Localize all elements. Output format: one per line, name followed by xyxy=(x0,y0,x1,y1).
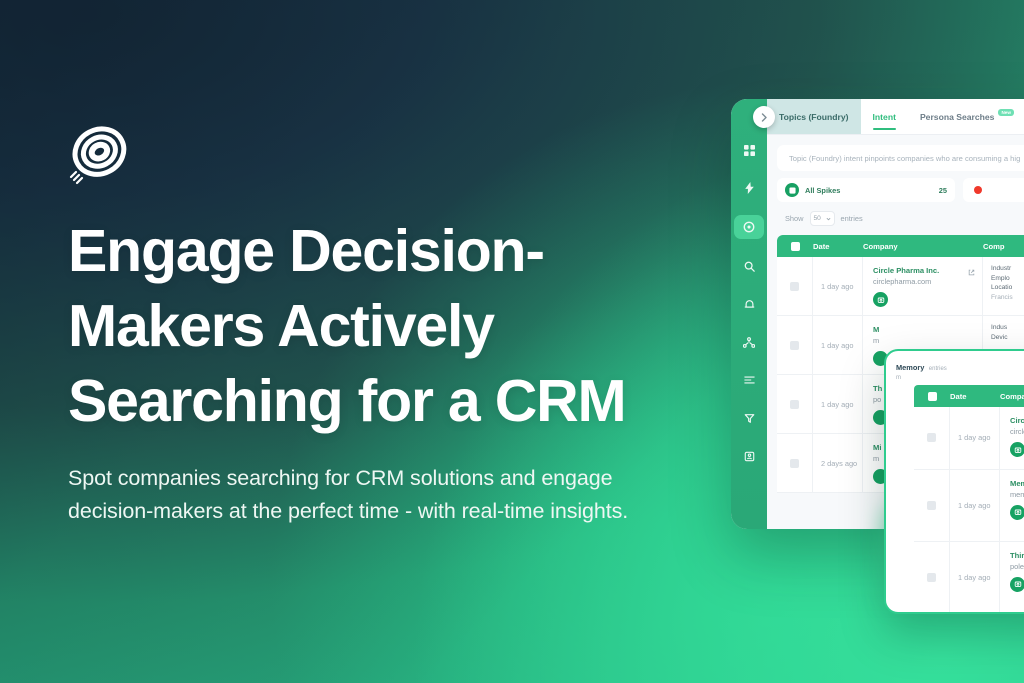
company-name: Circle Pharma Inc. xyxy=(1010,415,1024,426)
sidebar-item-dashboard-grid-icon[interactable] xyxy=(736,139,762,161)
external-link-icon[interactable] xyxy=(968,263,975,281)
sidebar-item-network-share-icon[interactable] xyxy=(736,331,762,353)
overlay-column-header-company[interactable]: Company xyxy=(1000,392,1024,401)
app-sidebar-rail xyxy=(731,99,767,529)
page-subtitle: Spot companies searching for CRM solutio… xyxy=(68,462,668,528)
cell-date: 1 day ago xyxy=(950,542,1000,613)
overlay-table-header-row: Date Company Comp xyxy=(914,385,1024,407)
company-avatar xyxy=(1010,577,1024,592)
company-domain: circlepharma.com xyxy=(873,276,974,288)
show-entries-control: Show 50 entries xyxy=(785,211,1024,226)
overlay-stub-domain: m xyxy=(896,375,1024,381)
tab-topics-foundry[interactable]: Topics (Foundry) xyxy=(767,99,861,134)
table-row[interactable]: 1 day ago Circle Pharma Inc. circlepharm… xyxy=(777,257,1024,316)
company-name: MemoryMD xyxy=(1010,478,1024,489)
tab-persona-searches[interactable]: Persona Searches New xyxy=(908,99,1024,134)
cell-date: 1 day ago xyxy=(813,257,863,315)
overlay-select-all-checkbox[interactable] xyxy=(914,392,950,401)
company-domain: pole3.com xyxy=(1010,561,1024,573)
intent-description-banner: Topic (Foundry) intent pinpoints compani… xyxy=(777,145,1024,171)
red-alert-icon xyxy=(971,183,985,197)
detail-line: Locatio xyxy=(991,283,1024,293)
cell-company: MemoryMD memorymd.com xyxy=(1000,470,1024,541)
company-domain: circlepharma.com xyxy=(1010,426,1024,438)
chip-alert[interactable]: 25 xyxy=(963,178,1024,202)
sidebar-item-target-icon[interactable] xyxy=(734,215,764,239)
company-name: Third Pole Therapeutics xyxy=(1010,550,1024,561)
row-checkbox[interactable] xyxy=(914,542,950,613)
entries-per-page-value: 50 xyxy=(814,215,821,222)
detail-line: Industr xyxy=(991,264,1024,274)
table-row[interactable]: 1 day ago MemoryMD memorymd.com Industr … xyxy=(914,470,1024,542)
row-checkbox[interactable] xyxy=(777,316,813,374)
chip-count: 25 xyxy=(939,186,947,195)
sidebar-item-lightning-bolt-icon[interactable] xyxy=(736,177,762,199)
detail-line: Francis xyxy=(991,293,1024,303)
cell-date: 1 day ago xyxy=(950,407,1000,469)
show-entries-prefix: Show xyxy=(785,214,804,223)
overlay-stub-company: Memory xyxy=(896,363,924,372)
row-checkbox[interactable] xyxy=(914,407,950,469)
cell-company-details: Industr Emplo Locatio Francis xyxy=(983,257,1024,315)
table-row[interactable]: 1 day ago Circle Pharma Inc. circlepharm… xyxy=(914,407,1024,470)
cell-company: Circle Pharma Inc. circlepharma.com xyxy=(1000,407,1024,469)
column-header-company-details[interactable]: Comp xyxy=(983,242,1024,251)
table-row[interactable]: 2 days ago Mizner Bioscience LLC miznerb… xyxy=(914,614,1024,615)
row-checkbox[interactable] xyxy=(777,257,813,315)
cell-date: 2 days ago xyxy=(950,614,1000,615)
overlay-column-header-date[interactable]: Date xyxy=(950,392,1000,401)
detail-line: Emplo xyxy=(991,274,1024,284)
chip-label: All Spikes xyxy=(805,186,840,195)
chevron-right-icon xyxy=(761,113,768,122)
entries-per-page-select[interactable]: 50 xyxy=(810,211,835,226)
table-row[interactable]: 1 day ago Third Pole Therapeutics pole3.… xyxy=(914,542,1024,614)
sidebar-item-search-icon[interactable] xyxy=(736,255,762,277)
new-badge: New xyxy=(998,109,1013,116)
company-avatar xyxy=(873,292,888,307)
overlay-stub-entries: entries xyxy=(929,366,947,372)
cell-company: Mizner Bioscience LLC miznerbioscience.c… xyxy=(1000,614,1024,615)
cell-company: Circle Pharma Inc. circlepharma.com xyxy=(863,257,983,315)
row-checkbox[interactable] xyxy=(914,470,950,541)
chip-all-spikes[interactable]: All Spikes 25 xyxy=(777,178,955,202)
cell-date: 1 day ago xyxy=(813,375,863,433)
sidebar-expand-toggle-button[interactable] xyxy=(753,106,775,128)
detail-line: Devic xyxy=(991,333,1024,343)
cell-date: 1 day ago xyxy=(950,470,1000,541)
overlay-results-card: Memory entries m Date Company Comp 1 day… xyxy=(884,349,1024,614)
overlay-card-stub-header: Memory entries m xyxy=(886,351,1024,381)
row-checkbox[interactable] xyxy=(777,434,813,492)
sidebar-item-filter-funnel-icon[interactable] xyxy=(736,407,762,429)
hero-left-content: Engage Decision-Makers Actively Searchin… xyxy=(68,0,708,683)
company-name: Circle Pharma Inc. xyxy=(873,265,974,276)
company-avatar xyxy=(1010,505,1024,520)
table-header-row: Date Company Comp xyxy=(777,235,1024,257)
chevron-down-icon xyxy=(826,217,831,221)
show-entries-suffix: entries xyxy=(841,214,863,223)
select-all-checkbox[interactable] xyxy=(777,242,813,251)
column-header-company[interactable]: Company xyxy=(863,242,983,251)
sidebar-item-id-card-icon[interactable] xyxy=(736,445,762,467)
row-checkbox[interactable] xyxy=(777,375,813,433)
company-name: M xyxy=(873,324,974,335)
cell-company: Third Pole Therapeutics pole3.com xyxy=(1000,542,1024,613)
page-title: Engage Decision-Makers Actively Searchin… xyxy=(68,214,708,439)
tab-intent[interactable]: Intent xyxy=(861,99,908,134)
tab-label: Intent xyxy=(873,112,896,122)
concentric-spiral-logo-icon xyxy=(68,122,130,188)
cell-date: 2 days ago xyxy=(813,434,863,492)
overlay-companies-table: Date Company Comp 1 day ago Circle Pharm… xyxy=(914,385,1024,614)
company-domain: m xyxy=(873,335,974,347)
company-domain: memorymd.com xyxy=(1010,489,1024,501)
filter-chip-row: All Spikes 25 25 xyxy=(777,178,1024,202)
tab-label: Topics (Foundry) xyxy=(779,112,849,122)
cell-date: 1 day ago xyxy=(813,316,863,374)
sidebar-item-bell-alert-icon[interactable] xyxy=(736,293,762,315)
sidebar-item-list-icon[interactable] xyxy=(736,369,762,391)
column-header-date[interactable]: Date xyxy=(813,242,863,251)
row-checkbox[interactable] xyxy=(914,614,950,615)
spike-circle-icon xyxy=(785,183,799,197)
tab-bar: Topics (Foundry) Intent Persona Searches… xyxy=(767,99,1024,135)
detail-line: Indus xyxy=(991,323,1024,333)
company-avatar xyxy=(1010,442,1024,457)
tab-label: Persona Searches xyxy=(920,112,995,122)
